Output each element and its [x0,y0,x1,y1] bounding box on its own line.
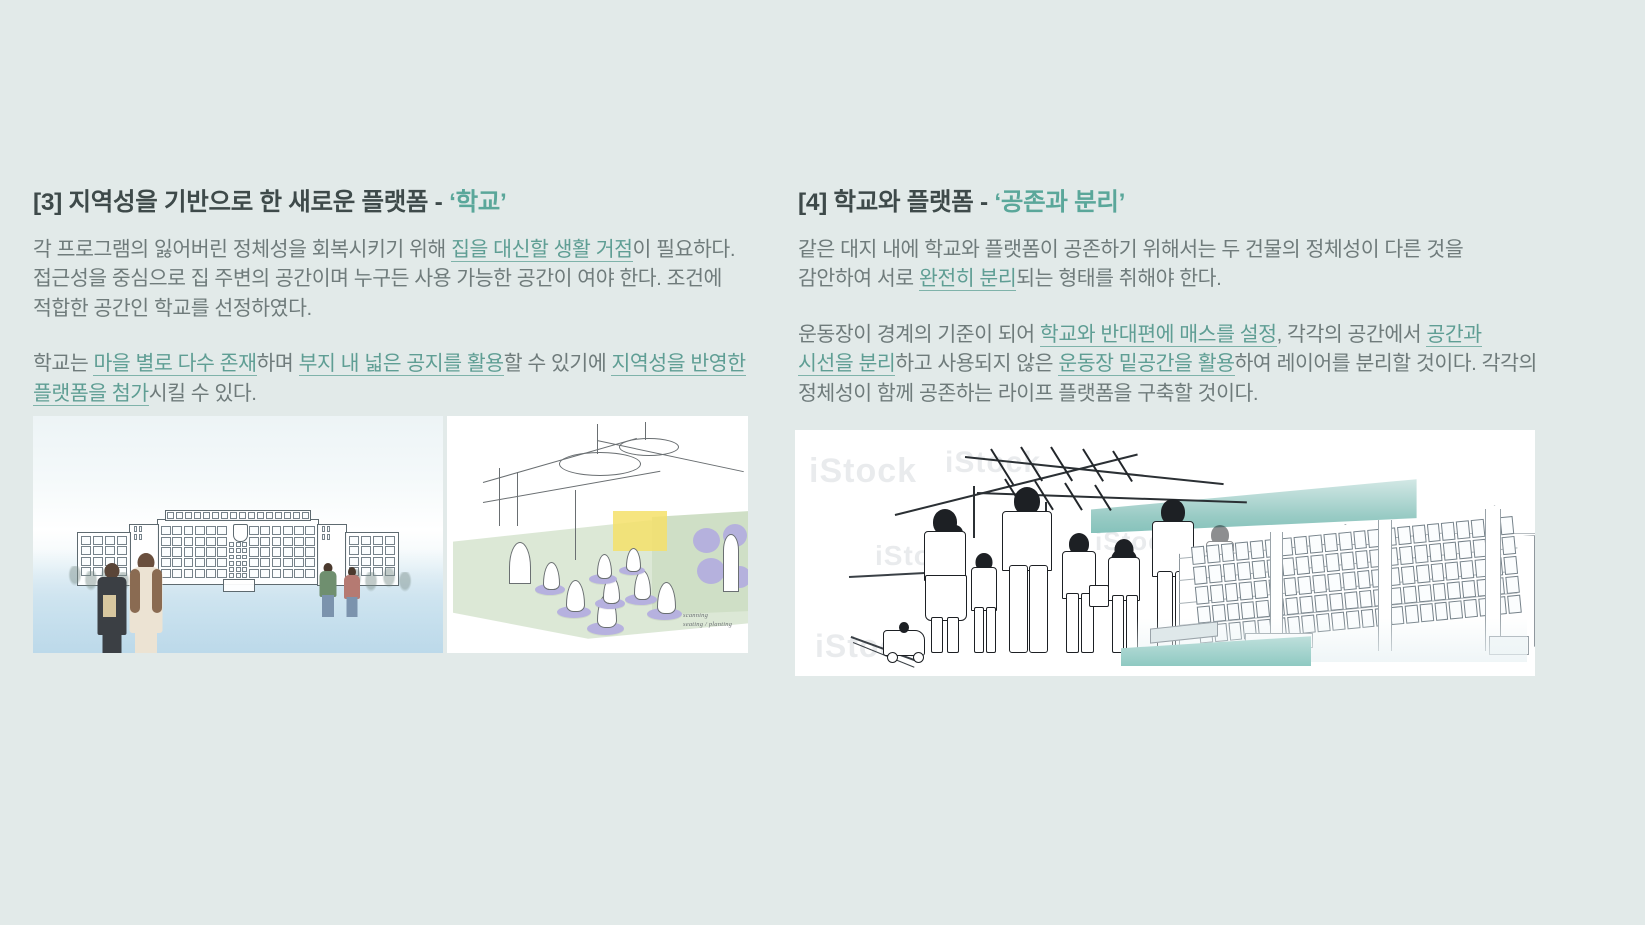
left-p2-highlight-2: 부지 내 넓은 공지를 활용 [299,352,504,376]
figure-campus-exterior-rendering [33,416,443,653]
pendant-lamp-icon [619,438,679,456]
right-p1-highlight-1: 완전히 분리 [919,267,1016,291]
right-paragraph-2: 운동장이 경계의 기준이 되어 학교와 반대편에 매스를 설정, 각각의 공간에… [798,320,1538,409]
left-p2-highlight-1: 마을 별로 다수 존재 [93,352,256,376]
window-grid-parapet [167,512,309,519]
wall-blob [693,528,720,553]
figure-canopy-walkway-and-school-sketch: iStock iStock iStock iStock iStock [795,430,1535,676]
foreground-person-left [97,561,127,653]
left-column: [3] 지역성을 기반으로 한 새로운 플랫폼 - ‘학교’ 각 프로그램의 잃… [33,188,773,408]
figure-interior-hand-sketch: scanning seating / planting [447,416,748,653]
right-figure-row: iStock iStock iStock iStock iStock [795,430,1535,676]
standing-figure [509,542,531,584]
foreground-person-center [129,553,163,653]
shrub-icon [381,568,397,590]
walker-child [971,553,997,651]
left-title-prefix: [3] 지역성을 기반으로 한 새로운 플랫폼 - [33,189,449,216]
right-title-accent: ‘공존과 분리’ [994,189,1125,216]
left-paragraph-1: 각 프로그램의 잃어버린 정체성을 회복시키기 위해 집을 대신할 생활 거점이… [33,235,773,324]
shrub-icon [67,566,83,588]
right-paragraph-1: 같은 대지 내에 학교와 플랫폼이 공존하기 위해서는 두 건물의 정체성이 다… [798,235,1538,294]
school-building-perspective [1121,479,1535,666]
sketch-yellow-accent [613,511,667,551]
left-figure-row: scanning seating / planting [33,416,748,653]
watermark-text: iStock [809,452,917,491]
right-p2-run5: 하고 사용되지 않은 [895,352,1058,375]
left-section-title: [3] 지역성을 기반으로 한 새로운 플랫폼 - ‘학교’ [33,188,773,219]
right-p2-highlight-3: 운동장 밑공간을 활용 [1058,352,1234,376]
standing-figure-at-wall [723,534,739,592]
window-grid-center-left [161,526,227,578]
walker-person-with-handbag [1061,533,1097,651]
window-grid-left-tower [134,526,142,540]
walker-woman-with-bag [923,509,967,651]
left-p1-run1: 각 프로그램의 잃어버린 정체성을 회복시키기 위해 [33,238,451,261]
background-person-b [343,567,360,617]
walker-man-front [1001,487,1053,651]
right-column: [4] 학교와 플랫폼 - ‘공존과 분리’ 같은 대지 내에 학교와 플랫폼이… [798,188,1538,408]
right-p2-run1: 운동장이 경계의 기준이 되어 [798,323,1040,346]
sketch-mullion [499,468,500,526]
stroller-wheel [913,652,924,663]
skirt [925,575,967,621]
pendant-lamp-icon [559,452,641,476]
left-p2-run5: 할 수 있기에 [504,352,612,375]
left-p2-run7: 시킬 수 있다. [149,382,257,405]
right-p1-run3: 되는 형태를 취해야 한다. [1016,267,1221,290]
left-title-accent: ‘학교’ [449,189,507,216]
background-person-a [319,563,337,617]
right-p2-highlight-1: 학교와 반대편에 매스를 설정 [1040,323,1277,347]
slide-canvas: [3] 지역성을 기반으로 한 새로운 플랫폼 - ‘학교’ 각 프로그램의 잃… [0,0,1645,925]
window-grid-center-right [249,526,315,578]
left-p2-run1: 학교는 [33,352,93,375]
building-main-entrance [223,579,255,592]
right-title-prefix: [4] 학교와 플랫폼 - [798,189,994,216]
right-section-title: [4] 학교와 플랫폼 - ‘공존과 분리’ [798,188,1538,219]
left-p1-highlight-1: 집을 대신할 생활 거점 [451,238,632,262]
sketch-caption: scanning seating / planting [683,612,732,630]
window-grid-center-stair [229,542,247,578]
right-p2-run3: , 각각의 공간에서 [1277,323,1427,346]
sketch-mullion [575,490,576,560]
sketch-mullion [517,472,518,526]
shrub-icon [363,572,379,594]
shrub-icon [397,572,413,594]
left-p2-run3: 하며 [257,352,299,375]
stroller-wheel [887,652,898,663]
lamp-cord [597,424,598,454]
canopy-column [973,486,975,538]
wall-blob [697,558,725,584]
child-in-stroller-head [899,622,909,633]
school-crest-icon [233,524,248,542]
handbag-icon [1089,585,1109,607]
left-paragraph-2: 학교는 마을 별로 다수 존재하며 부지 내 넓은 공지를 활용할 수 있기에 … [33,349,773,408]
window-grid-right-tower [322,526,330,540]
